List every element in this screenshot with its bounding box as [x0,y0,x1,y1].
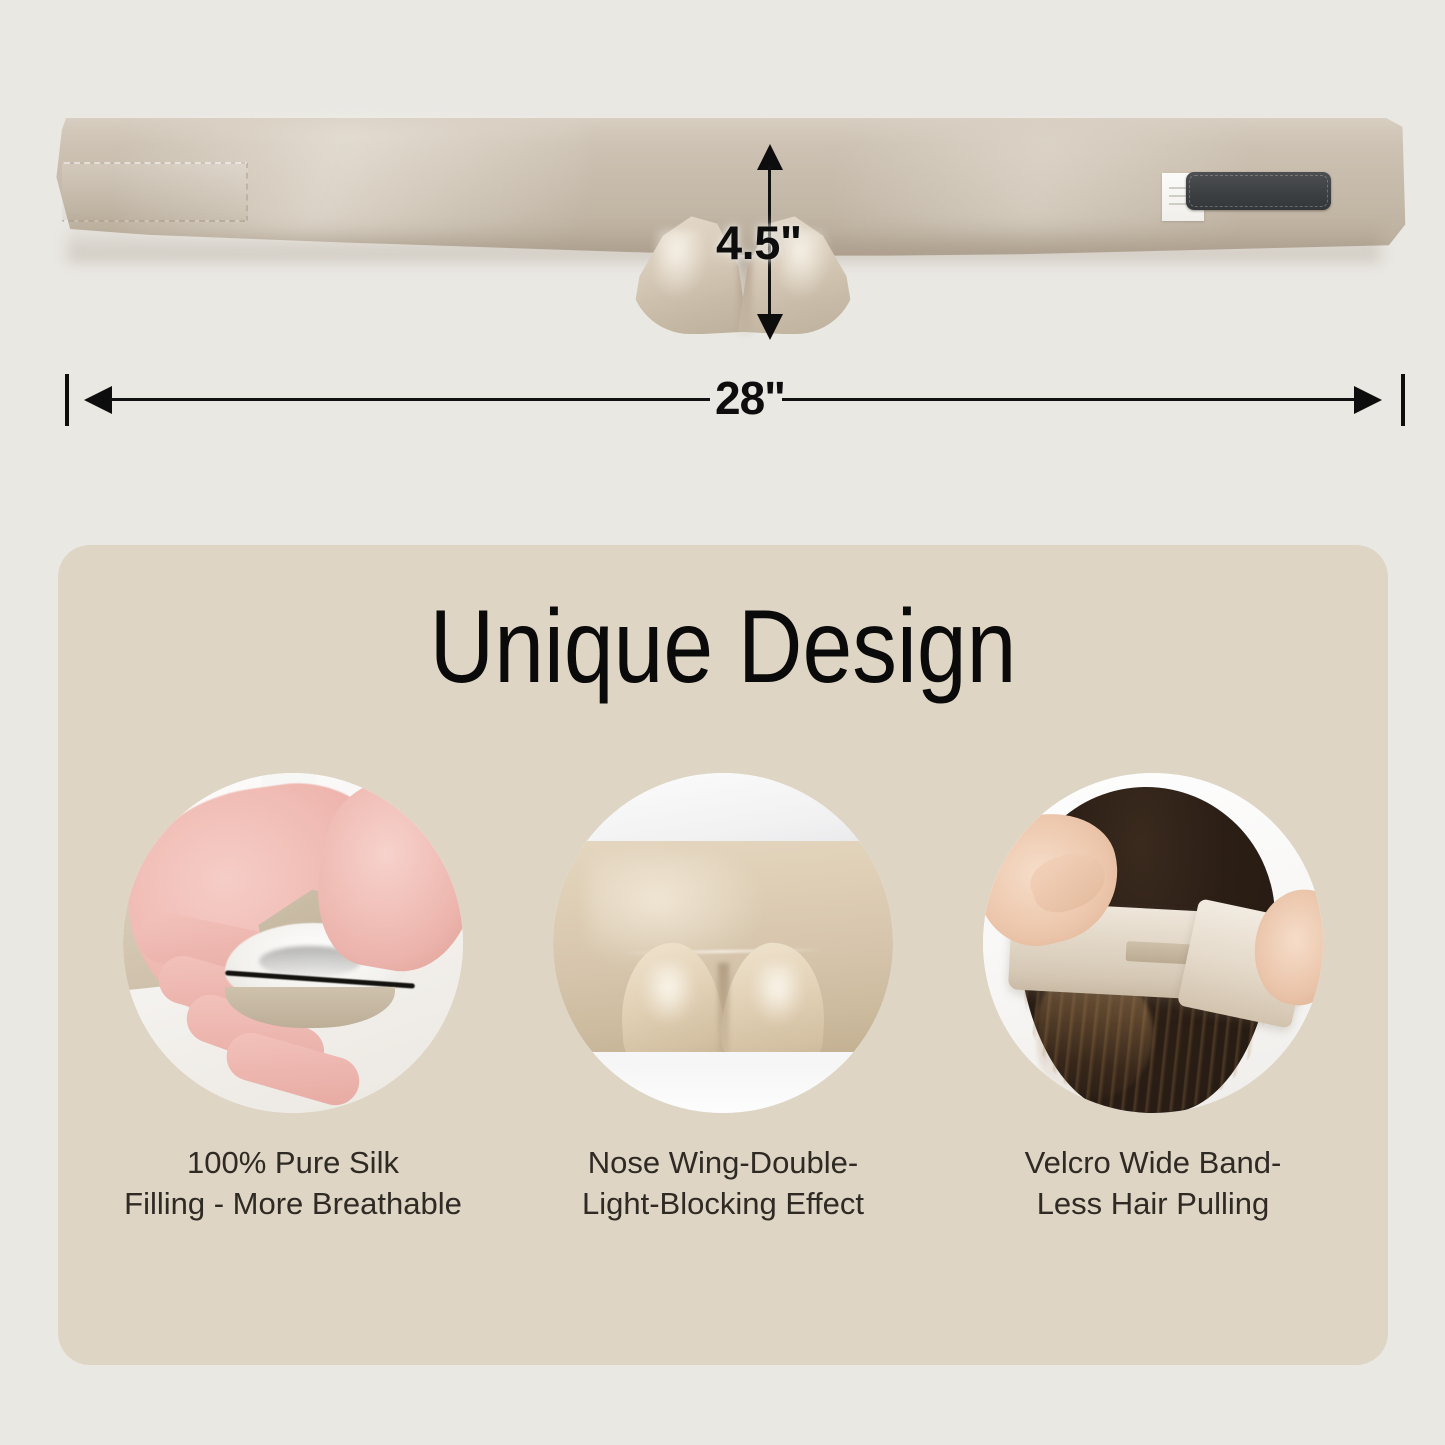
velcro-stitching [1189,175,1328,207]
feature-caption: Velcro Wide Band- Less Hair Pulling [1025,1143,1282,1225]
dimension-tick-right [1401,374,1405,426]
dimension-line-left [110,398,710,401]
width-dimension-arrow: 28" [60,366,1410,434]
arrow-down-icon [757,314,783,340]
dimension-line-right [782,398,1357,401]
feature-image-silk-filling [123,773,463,1113]
velcro-strip [1186,172,1331,210]
feature-image-velcro-band [983,773,1323,1113]
feature-item: Nose Wing-Double- Light-Blocking Effect [528,773,918,1333]
nose-highlight-left [656,230,708,300]
dimension-tick-left [65,374,69,426]
product-photo-area: 4.5" 28" [0,0,1445,520]
panel-title: Unique Design [151,593,1295,702]
width-dimension-label: 28" [715,371,779,425]
feature-caption: Nose Wing-Double- Light-Blocking Effect [582,1143,864,1225]
infographic-canvas: 4.5" 28" Unique Design [0,0,1445,1445]
feature-list: 100% Pure Silk Filling - More Breathable [58,773,1388,1333]
feature-caption: 100% Pure Silk Filling - More Breathable [124,1143,462,1225]
feature-item: Velcro Wide Band- Less Hair Pulling [958,773,1348,1333]
height-dimension-label: 4.5" [716,215,802,270]
strap-loop-stitching [62,162,248,222]
arrow-right-icon [1354,386,1382,414]
arrow-left-icon [84,386,112,414]
unique-design-panel: Unique Design [58,545,1388,1365]
feature-item: 100% Pure Silk Filling - More Breathable [98,773,488,1333]
feature-image-nose-wing [553,773,893,1113]
